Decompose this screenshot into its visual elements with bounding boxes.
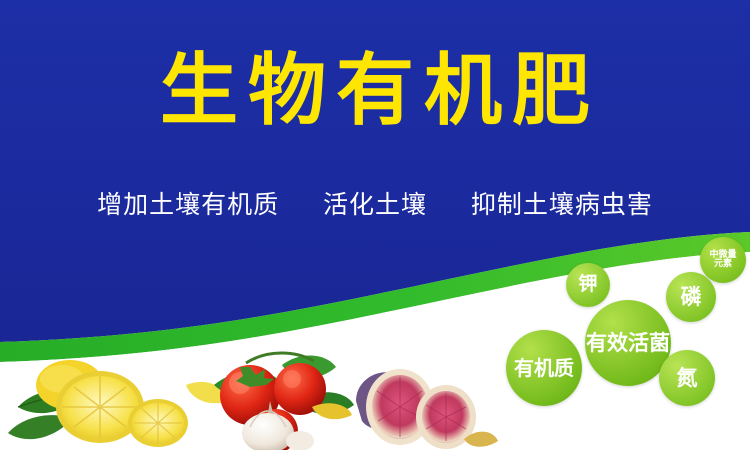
bubble-label-nitrogen: 氮 xyxy=(677,367,698,389)
subtitle-item-2: 活化土壤 xyxy=(323,192,427,217)
product-banner: 生物有机肥 增加土壤有机质 活化土壤 抑制土壤病虫害 xyxy=(0,0,750,450)
bubble-trace-elements: 中微量元素 xyxy=(700,237,746,283)
lemon-group xyxy=(8,360,228,447)
subtitle-item-3: 抑制土壤病虫害 xyxy=(471,192,653,217)
bubble-nitrogen: 氮 xyxy=(659,350,715,406)
tomato-basil-garlic-group xyxy=(214,353,354,450)
subtitle-item-1: 增加土壤有机质 xyxy=(97,192,279,217)
bubble-label-trace-elements: 中微量元素 xyxy=(709,251,736,270)
bubble-organic-matter: 有机质 xyxy=(506,330,582,406)
page-title: 生物有机肥 xyxy=(0,52,750,130)
bubble-active-bacteria: 有效活菌 xyxy=(585,300,671,386)
bubble-phosphorus: 磷 xyxy=(666,272,716,322)
fig-group xyxy=(356,369,498,449)
bubble-label-potassium: 钾 xyxy=(578,275,597,295)
bubble-label-organic-matter: 有机质 xyxy=(514,358,574,379)
bubble-label-phosphorus: 磷 xyxy=(681,286,702,308)
subtitle-row: 增加土壤有机质 活化土壤 抑制土壤病虫害 xyxy=(0,192,750,217)
bubble-label-active-bacteria: 有效活菌 xyxy=(586,332,670,354)
bubble-potassium: 钾 xyxy=(566,263,610,307)
